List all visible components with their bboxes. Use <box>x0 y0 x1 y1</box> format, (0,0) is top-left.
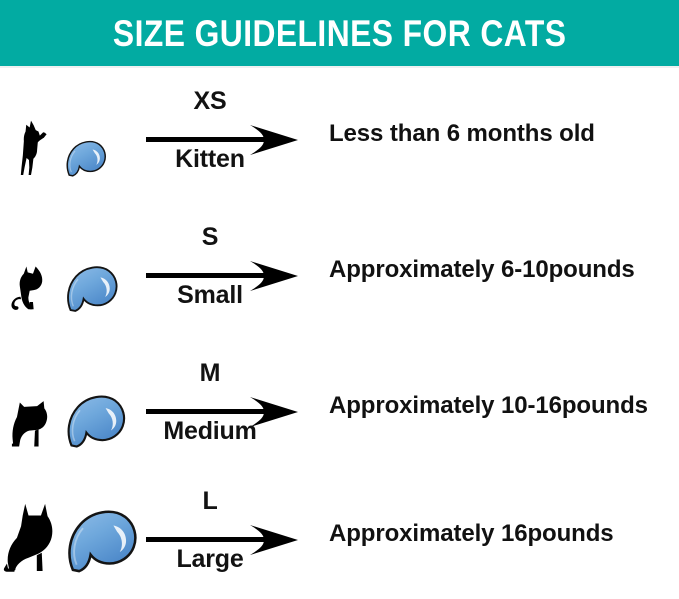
size-word-xs: Kitten <box>146 144 274 174</box>
description-cell-s: Approximately 6-10pounds <box>325 202 679 338</box>
nail-cap-icon <box>64 265 120 314</box>
cat-illustration-cell-xs <box>0 66 62 202</box>
arrow-cell-xs: XS Kitten <box>140 66 325 202</box>
size-abbr-s: S <box>146 222 274 252</box>
size-abbr-m: M <box>146 358 274 388</box>
description-text-l: Approximately 16pounds <box>329 520 614 548</box>
size-word-l: Large <box>146 544 274 574</box>
nail-cap-icon <box>64 140 108 178</box>
size-word-s: Small <box>146 280 274 310</box>
cat-illustration-cell-l <box>0 468 62 599</box>
description-text-m: Approximately 10-16pounds <box>329 392 648 420</box>
header-banner: SIZE GUIDELINES FOR CATS <box>0 0 679 66</box>
cat-illustration-cell-m <box>0 338 62 474</box>
nail-cap-cell-l <box>62 468 140 599</box>
nail-cap-cell-s <box>62 202 140 338</box>
cat-sitting-left-icon <box>4 396 58 448</box>
nail-cap-icon <box>64 394 128 450</box>
arrow-cell-s: S Small <box>140 202 325 338</box>
size-word-m: Medium <box>146 416 274 446</box>
arrow-cell-m: M Medium <box>140 338 325 474</box>
description-cell-m: Approximately 10-16pounds <box>325 338 679 474</box>
cat-sitting-upright-icon <box>2 501 60 573</box>
nail-cap-icon <box>64 509 140 575</box>
size-row-m: M Medium Approximately 10-16pounds <box>0 338 679 474</box>
arrow-cell-l: L Large <box>140 468 325 599</box>
description-text-s: Approximately 6-10pounds <box>329 256 635 284</box>
page-title: SIZE GUIDELINES FOR CATS <box>113 15 566 52</box>
description-text-xs: Less than 6 months old <box>329 120 595 148</box>
description-cell-xs: Less than 6 months old <box>325 66 679 202</box>
nail-cap-cell-m <box>62 338 140 474</box>
size-guide-page: SIZE GUIDELINES FOR CATS <box>0 0 679 599</box>
size-abbr-l: L <box>146 486 274 516</box>
size-abbr-xs: XS <box>146 86 274 116</box>
size-row-xs: XS Kitten Less than 6 months old <box>0 66 679 202</box>
size-row-s: S Small Approximately 6-10pounds <box>0 202 679 338</box>
nail-cap-cell-xs <box>62 66 140 202</box>
size-row-l: L Large Approximately 16pounds <box>0 468 679 599</box>
cat-standing-reaching-icon <box>14 120 48 176</box>
description-cell-l: Approximately 16pounds <box>325 468 679 599</box>
cat-illustration-cell-s <box>0 202 62 338</box>
cat-sitting-curled-tail-icon <box>8 265 54 312</box>
